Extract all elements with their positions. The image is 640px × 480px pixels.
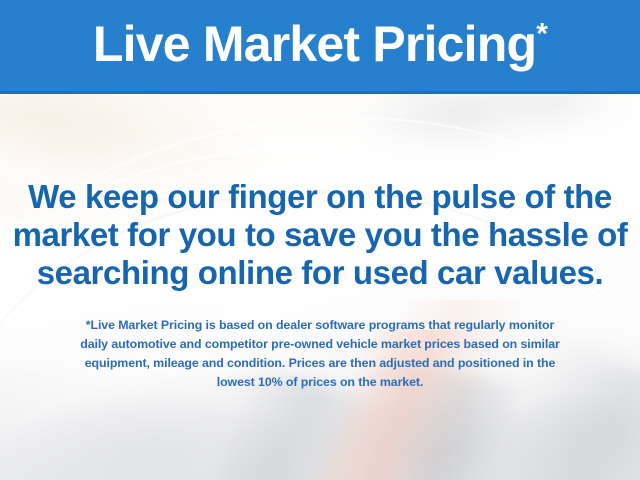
disclaimer-line-4: lowest 10% of prices on the market.	[20, 373, 620, 392]
headline-line-3: searching online for used car values.	[0, 254, 640, 292]
header-banner: Live Market Pricing*	[0, 0, 640, 94]
headline-line-2: market for you to save you the hassle of	[0, 216, 640, 254]
disclaimer-line-2: daily automotive and competitor pre-owne…	[20, 335, 620, 354]
headline-block: We keep our finger on the pulse of the m…	[0, 178, 640, 292]
marketing-slide: Live Market Pricing* We keep our finger …	[0, 0, 640, 480]
footnote-marker-icon: *	[536, 17, 547, 50]
page-title-text: Live Market Pricing	[93, 16, 536, 72]
disclaimer-line-1: *Live Market Pricing is based on dealer …	[20, 316, 620, 335]
disclaimer-block: *Live Market Pricing is based on dealer …	[20, 316, 620, 392]
page-title: Live Market Pricing*	[93, 19, 547, 73]
headline-line-1: We keep our finger on the pulse of the	[0, 178, 640, 216]
disclaimer-line-3: equipment, mileage and condition. Prices…	[20, 354, 620, 373]
